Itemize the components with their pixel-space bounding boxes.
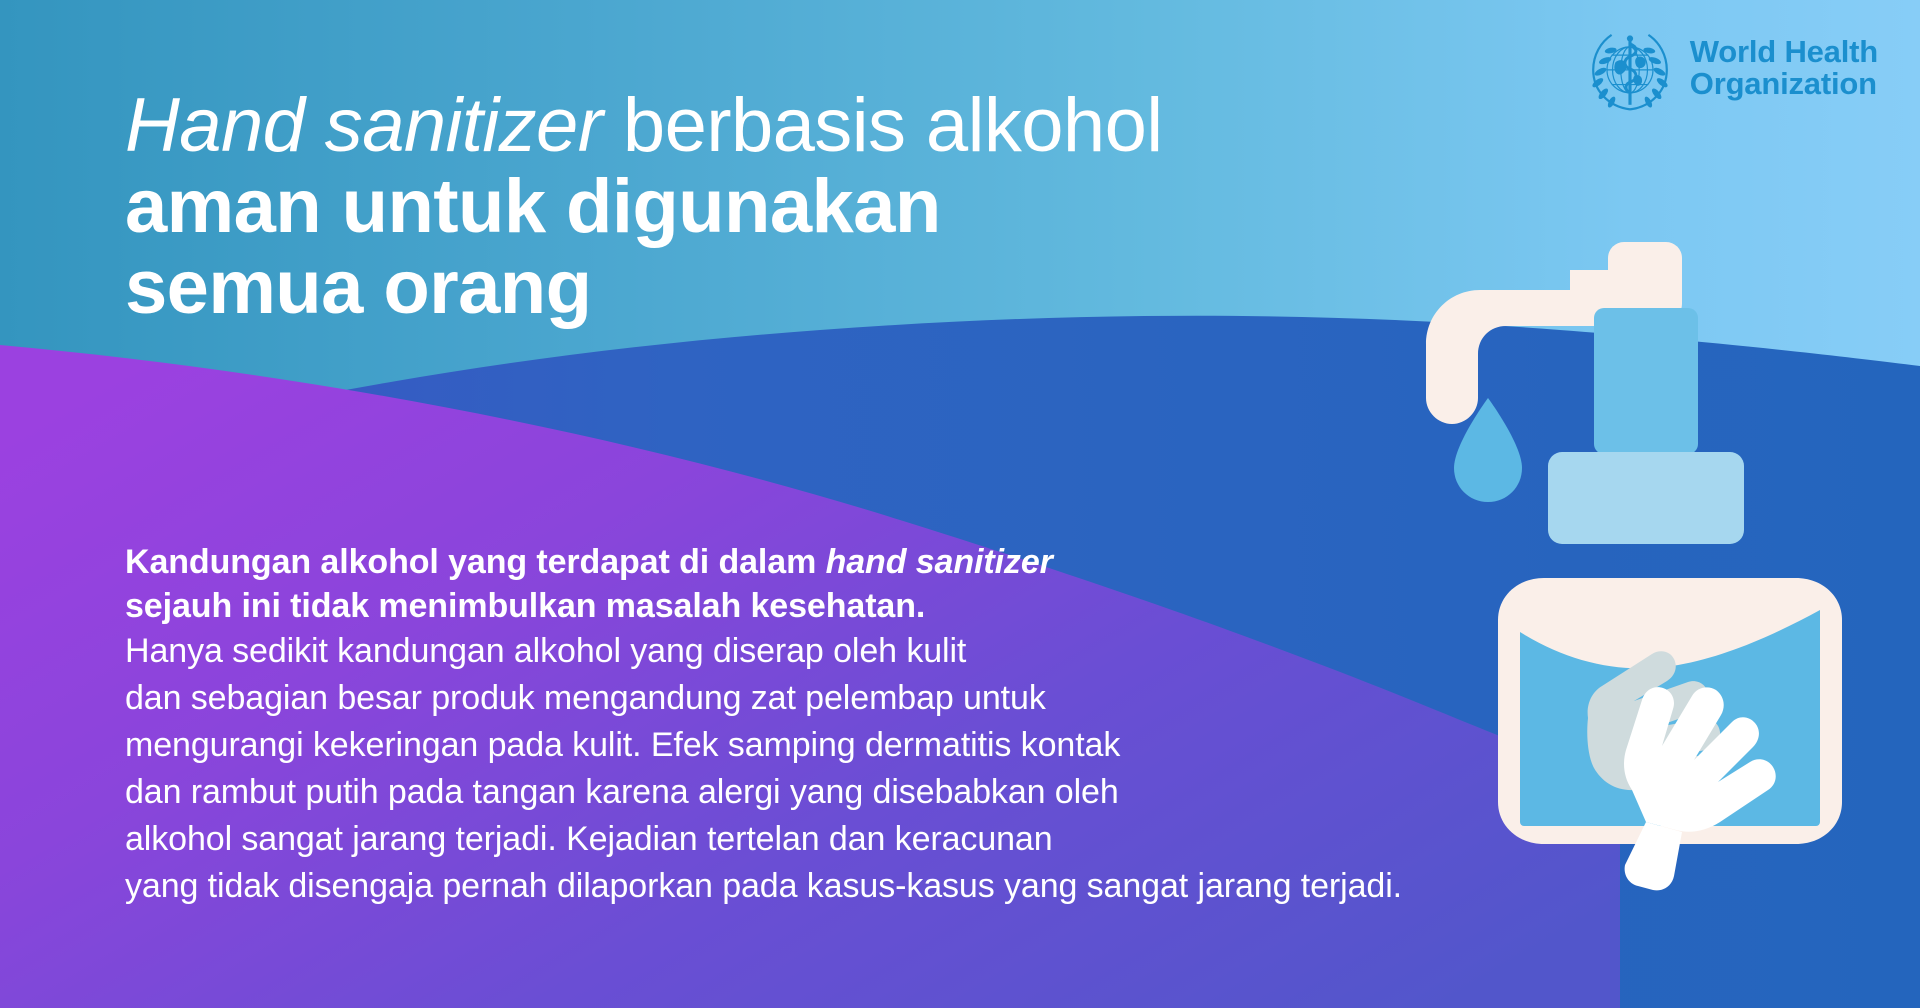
lead-line-1-emphasis: hand sanitizer	[826, 543, 1053, 581]
headline-line-2: aman untuk digunakan	[125, 169, 1525, 244]
headline-block: Hand sanitizer berbasis alkohol aman unt…	[125, 88, 1525, 332]
pump-head	[1594, 308, 1698, 454]
hand-sanitizer-bottle-illustration	[1420, 230, 1920, 930]
pump-nozzle	[1426, 270, 1616, 424]
lead-line-1-text: Kandungan alkohol yang terdapat di dalam	[125, 543, 826, 581]
headline-line-1: Hand sanitizer berbasis alkohol	[125, 88, 1525, 163]
who-logo: World Health Organization	[1584, 22, 1878, 114]
headline-line-3: semua orang	[125, 250, 1525, 325]
bottle-shoulder	[1548, 452, 1744, 544]
who-emblem-icon	[1584, 22, 1676, 114]
headline-line-1-rest: berbasis alkohol	[602, 83, 1162, 168]
who-wordmark: World Health Organization	[1690, 36, 1878, 99]
headline-line-1-italic: Hand sanitizer	[125, 83, 602, 168]
infographic-canvas: World Health Organization Hand sanitizer…	[0, 0, 1920, 1008]
